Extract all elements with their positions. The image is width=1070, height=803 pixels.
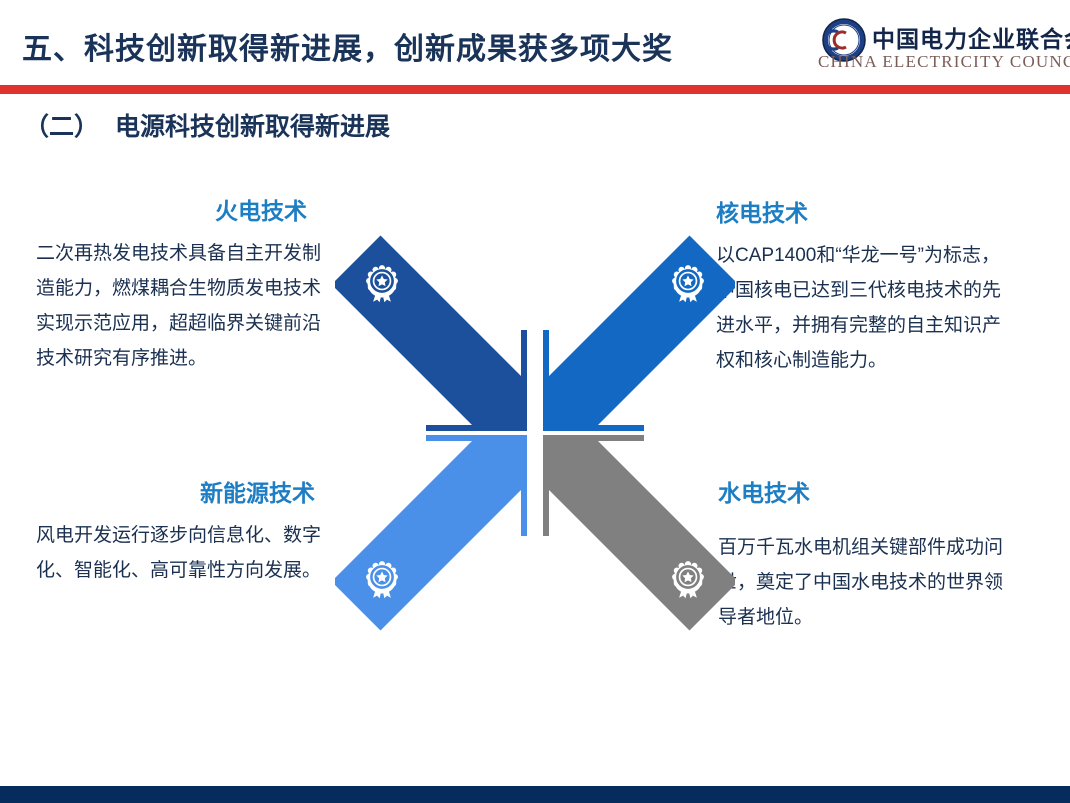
arrow-3[interactable] bbox=[543, 435, 735, 631]
block-nuclear-title: 核电技术 bbox=[716, 200, 1006, 228]
block-thermal-body: 二次再热发电技术具备自主开发制造能力，燃煤耦合生物质发电技术实现示范应用，超超临… bbox=[36, 236, 321, 377]
block-thermal: 火电技术 二次再热发电技术具备自主开发制造能力，燃煤耦合生物质发电技术实现示范应… bbox=[36, 198, 321, 376]
block-new-energy-title: 新能源技术 bbox=[36, 480, 321, 508]
four-arrow-svg bbox=[335, 228, 735, 638]
logo-name-en: CHINA ELECTRICITY COUNCIL bbox=[818, 52, 1070, 72]
block-hydro: 水电技术 百万千瓦水电机组关键部件成功问世，奠定了中国水电技术的世界领导者地位。 bbox=[718, 480, 1010, 635]
footer-bar bbox=[0, 786, 1070, 803]
block-hydro-title: 水电技术 bbox=[718, 480, 1010, 508]
section-number: （二） bbox=[24, 113, 99, 141]
slide: 五、科技创新取得新进展，创新成果获多项大奖 中国电力企业联合会 CHINA EL… bbox=[0, 0, 1070, 803]
arrow-4-number: 4 bbox=[473, 660, 490, 690]
logo-name-cn: 中国电力企业联合会 bbox=[872, 20, 1070, 54]
arrow-4[interactable] bbox=[335, 435, 527, 631]
section-heading: （二）电源科技创新取得新进展 bbox=[24, 107, 390, 143]
block-thermal-title: 火电技术 bbox=[36, 198, 321, 226]
page-title: 五、科技创新取得新进展，创新成果获多项大奖 bbox=[22, 24, 673, 68]
four-arrow-diagram: 1 2 3 4 bbox=[335, 228, 735, 638]
block-nuclear: 核电技术 以CAP1400和“华龙一号”为标志，中国核电已达到三代核电技术的先进… bbox=[716, 200, 1006, 378]
section-title: 电源科技创新取得新进展 bbox=[115, 113, 390, 141]
arrow-1[interactable] bbox=[335, 236, 527, 432]
header-red-divider bbox=[0, 85, 1070, 94]
block-nuclear-body: 以CAP1400和“华龙一号”为标志，中国核电已达到三代核电技术的先进水平，并拥… bbox=[716, 238, 1006, 379]
organization-logo: 中国电力企业联合会 CHINA ELECTRICITY COUNCIL bbox=[814, 16, 1062, 78]
arrow-2[interactable] bbox=[543, 236, 735, 432]
block-new-energy-body: 风电开发运行逐步向信息化、数字化、智能化、高可靠性方向发展。 bbox=[36, 518, 321, 588]
block-hydro-body: 百万千瓦水电机组关键部件成功问世，奠定了中国水电技术的世界领导者地位。 bbox=[718, 530, 1010, 635]
slide-header: 五、科技创新取得新进展，创新成果获多项大奖 中国电力企业联合会 CHINA EL… bbox=[0, 0, 1070, 84]
block-new-energy: 新能源技术 风电开发运行逐步向信息化、数字化、智能化、高可靠性方向发展。 bbox=[36, 480, 321, 588]
arrow-3-number: 3 bbox=[537, 660, 554, 690]
